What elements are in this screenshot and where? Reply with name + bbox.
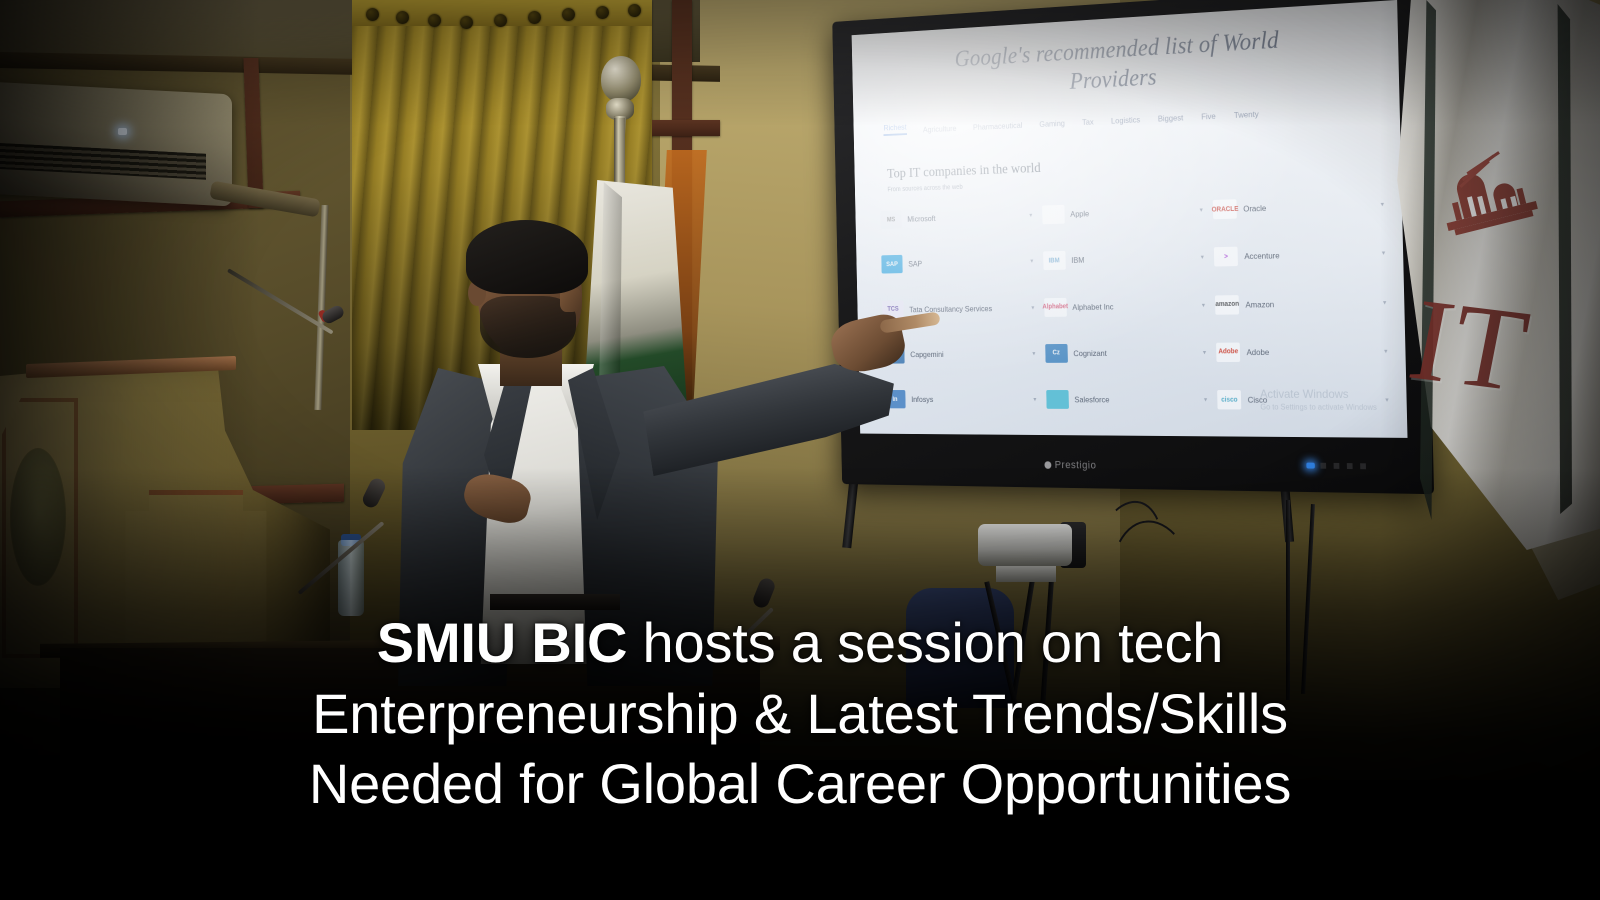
company-item[interactable]: Salesforce▾: [1046, 390, 1207, 409]
company-logo-icon: amazon: [1215, 295, 1239, 315]
company-item[interactable]: amazonAmazon▾: [1215, 292, 1386, 314]
category-tab-gaming[interactable]: Gaming: [1039, 118, 1065, 129]
company-name: Adobe: [1246, 347, 1269, 357]
company-item[interactable]: CzCognizant▾: [1045, 343, 1206, 363]
presentation-display[interactable]: Google's recommended list of World Provi…: [832, 0, 1434, 494]
category-tab-biggest[interactable]: Biggest: [1158, 113, 1184, 124]
curtain-grommet: [528, 11, 541, 24]
brand-logo-icon: [1044, 461, 1051, 469]
caption-bold-prefix: SMIU BIC: [377, 611, 627, 674]
curtain-grommet: [428, 14, 441, 27]
company-item[interactable]: ORACLEOracle▾: [1213, 194, 1384, 219]
watermark-subtitle: Go to Settings to activate Windows: [1260, 402, 1377, 411]
chevron-down-icon[interactable]: ▾: [1029, 211, 1032, 219]
company-name: Infosys: [911, 395, 933, 404]
curtain-grommet: [366, 8, 379, 21]
slide-title-line2: Providers: [1069, 64, 1157, 94]
company-item[interactable]: >Accenture▾: [1214, 243, 1385, 266]
company-item[interactable]: AdobeAdobe▾: [1216, 341, 1387, 362]
category-tab-tax[interactable]: Tax: [1082, 117, 1094, 127]
flag-finial-icon: [601, 56, 641, 102]
slide-content: Google's recommended list of World Provi…: [852, 0, 1408, 438]
company-logo-icon: Cz: [1045, 344, 1068, 363]
company-name: SAP: [908, 259, 922, 268]
caption-line-2: Enterpreneurship & Latest Trends/Skills: [0, 679, 1600, 750]
company-column-1: MSMicrosoft▾SAPSAP▾TCSTata Consultancy S…: [880, 192, 1037, 422]
chevron-down-icon[interactable]: ▾: [1202, 301, 1205, 309]
chevron-down-icon[interactable]: ▾: [1385, 396, 1389, 404]
institution-building-emblem-icon: [1432, 150, 1552, 280]
chevron-down-icon[interactable]: ▾: [1203, 348, 1206, 356]
category-tab-logistics[interactable]: Logistics: [1111, 115, 1140, 126]
company-item[interactable]: InInfosys▾: [884, 390, 1036, 409]
caption-line-1: SMIU BIC hosts a session on tech: [0, 608, 1600, 679]
curtain-grommet: [460, 16, 473, 29]
monitor-control-buttons[interactable]: [1320, 463, 1373, 470]
chevron-down-icon[interactable]: ▾: [1033, 396, 1036, 403]
company-item[interactable]: CgCapgemini▾: [883, 344, 1035, 363]
company-name: Capgemini: [910, 349, 944, 358]
company-item[interactable]: SAPSAP▾: [881, 252, 1033, 274]
company-logo-icon: >: [1214, 247, 1238, 267]
curtain-grommet: [562, 8, 575, 21]
chevron-down-icon[interactable]: ▾: [1201, 254, 1204, 262]
category-tab-richest[interactable]: Richest: [883, 122, 906, 136]
company-name: Oracle: [1243, 203, 1266, 213]
monitor-brand: Prestigio: [1044, 459, 1096, 471]
slide-title: Google's recommended list of World Provi…: [872, 19, 1375, 106]
company-name: IBM: [1071, 255, 1084, 265]
caption-line-3: Needed for Global Career Opportunities: [0, 749, 1600, 820]
company-name: Cognizant: [1073, 348, 1106, 358]
category-tab-pharmaceutical[interactable]: Pharmaceutical: [973, 120, 1022, 132]
company-name: Tata Consultancy Services: [909, 303, 992, 313]
slide-section-title: Top IT companies in the world: [887, 161, 1041, 183]
air-conditioner-led-icon: [118, 128, 127, 135]
chevron-down-icon[interactable]: ▾: [1384, 347, 1388, 355]
company-name: Apple: [1070, 209, 1089, 219]
company-name: Accenture: [1244, 251, 1280, 262]
watermark-title: Activate Windows: [1260, 387, 1377, 401]
company-item[interactable]: AlphabetAlphabet Inc▾: [1044, 295, 1205, 316]
hair: [466, 220, 588, 294]
chevron-down-icon[interactable]: ▾: [1383, 298, 1387, 306]
caption-overlay: SMIU BIC hosts a session on tech Enterpr…: [0, 608, 1600, 820]
company-logo-icon: [1042, 205, 1065, 224]
chevron-down-icon[interactable]: ▾: [1381, 200, 1385, 208]
company-name: Amazon: [1245, 299, 1274, 309]
monitor-screen[interactable]: Google's recommended list of World Provi…: [852, 0, 1408, 438]
slide-section-subtitle: From sources across the web: [887, 184, 962, 193]
chevron-down-icon[interactable]: ▾: [1030, 258, 1033, 266]
company-logo-icon: Adobe: [1216, 342, 1240, 361]
curtain-grommet: [628, 4, 641, 17]
category-tab-agriculture[interactable]: Agriculture: [923, 123, 957, 134]
company-item[interactable]: Apple▾: [1042, 200, 1203, 224]
company-name: Microsoft: [907, 214, 935, 224]
chevron-down-icon[interactable]: ▾: [1032, 350, 1035, 358]
chevron-down-icon[interactable]: ▾: [1031, 304, 1034, 312]
company-name: Alphabet Inc: [1072, 301, 1113, 311]
curtain-grommet: [494, 14, 507, 27]
photo-canvas: Google's recommended list of World Provi…: [0, 0, 1600, 900]
camera-body: [978, 524, 1072, 566]
company-logo-icon: [1046, 390, 1069, 409]
curtain-grommet: [596, 6, 609, 19]
camera-mount-plate: [996, 566, 1056, 582]
company-logo-icon: IBM: [1043, 251, 1066, 270]
company-logo-icon: cisco: [1217, 390, 1241, 409]
monitor-brand-label: Prestigio: [1055, 460, 1097, 472]
company-item[interactable]: IBMIBM▾: [1043, 248, 1204, 271]
caption-line-1-rest: hosts a session on tech: [627, 611, 1223, 674]
chevron-down-icon[interactable]: ▾: [1200, 206, 1203, 214]
podium-emblem: [10, 448, 66, 586]
windows-activation-watermark: Activate Windows Go to Settings to activ…: [1260, 387, 1377, 412]
slide-title-line1: Google's recommended list of World: [954, 27, 1279, 72]
chevron-down-icon[interactable]: ▾: [1204, 396, 1207, 404]
company-logo-icon: Alphabet: [1044, 297, 1067, 316]
curtain-grommet: [396, 11, 409, 24]
category-tab-five[interactable]: Five: [1201, 111, 1216, 121]
institution-flag-text: IT: [1389, 280, 1600, 479]
chevron-down-icon[interactable]: ▾: [1382, 249, 1386, 257]
company-logo-icon: ORACLE: [1213, 199, 1237, 219]
company-item[interactable]: MSMicrosoft▾: [880, 206, 1032, 229]
company-item[interactable]: TCSTata Consultancy Services▾: [882, 298, 1034, 319]
pointing-arm: [640, 355, 904, 489]
monitor-power-led-icon: [1306, 463, 1315, 469]
category-tab-twenty[interactable]: Twenty: [1234, 109, 1259, 120]
company-column-2: Apple▾IBMIBM▾AlphabetAlphabet Inc▾CzCogn…: [1041, 186, 1207, 423]
company-name: Salesforce: [1074, 395, 1109, 405]
search-category-tabs[interactable]: RichestAgriculturePharmaceuticalGamingTa…: [883, 99, 1387, 136]
